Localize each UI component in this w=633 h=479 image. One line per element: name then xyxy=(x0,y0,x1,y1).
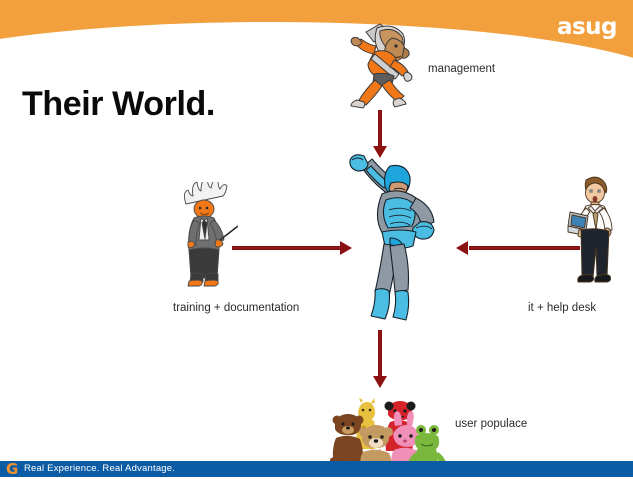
arrow-head xyxy=(340,241,352,255)
slide-canvas: asug Their World. xyxy=(0,0,633,479)
label-user-populace: user populace xyxy=(455,418,527,430)
page-title: Their World. xyxy=(22,87,215,121)
footer-tagline: Real Experience. Real Advantage. xyxy=(24,463,175,474)
label-training-documentation: training + documentation xyxy=(173,302,299,314)
label-management: management xyxy=(428,63,495,75)
arrow-shaft xyxy=(378,330,382,378)
slide-header-band: asug xyxy=(0,0,633,86)
arrow-head xyxy=(456,241,468,255)
superhero-figure xyxy=(344,146,448,326)
sap-g-logo-icon: G xyxy=(6,462,21,477)
management-figure xyxy=(344,18,424,110)
arrow-shaft xyxy=(378,110,382,148)
arrow-shaft xyxy=(469,246,580,250)
trainer-figure xyxy=(176,182,238,292)
user-populace-figure xyxy=(330,396,448,468)
arrow-shaft xyxy=(232,246,342,250)
it-support-figure xyxy=(566,172,624,294)
arrow-head xyxy=(373,376,387,388)
label-it-help-desk: it + help desk xyxy=(528,302,596,314)
asug-logo: asug xyxy=(557,16,617,39)
